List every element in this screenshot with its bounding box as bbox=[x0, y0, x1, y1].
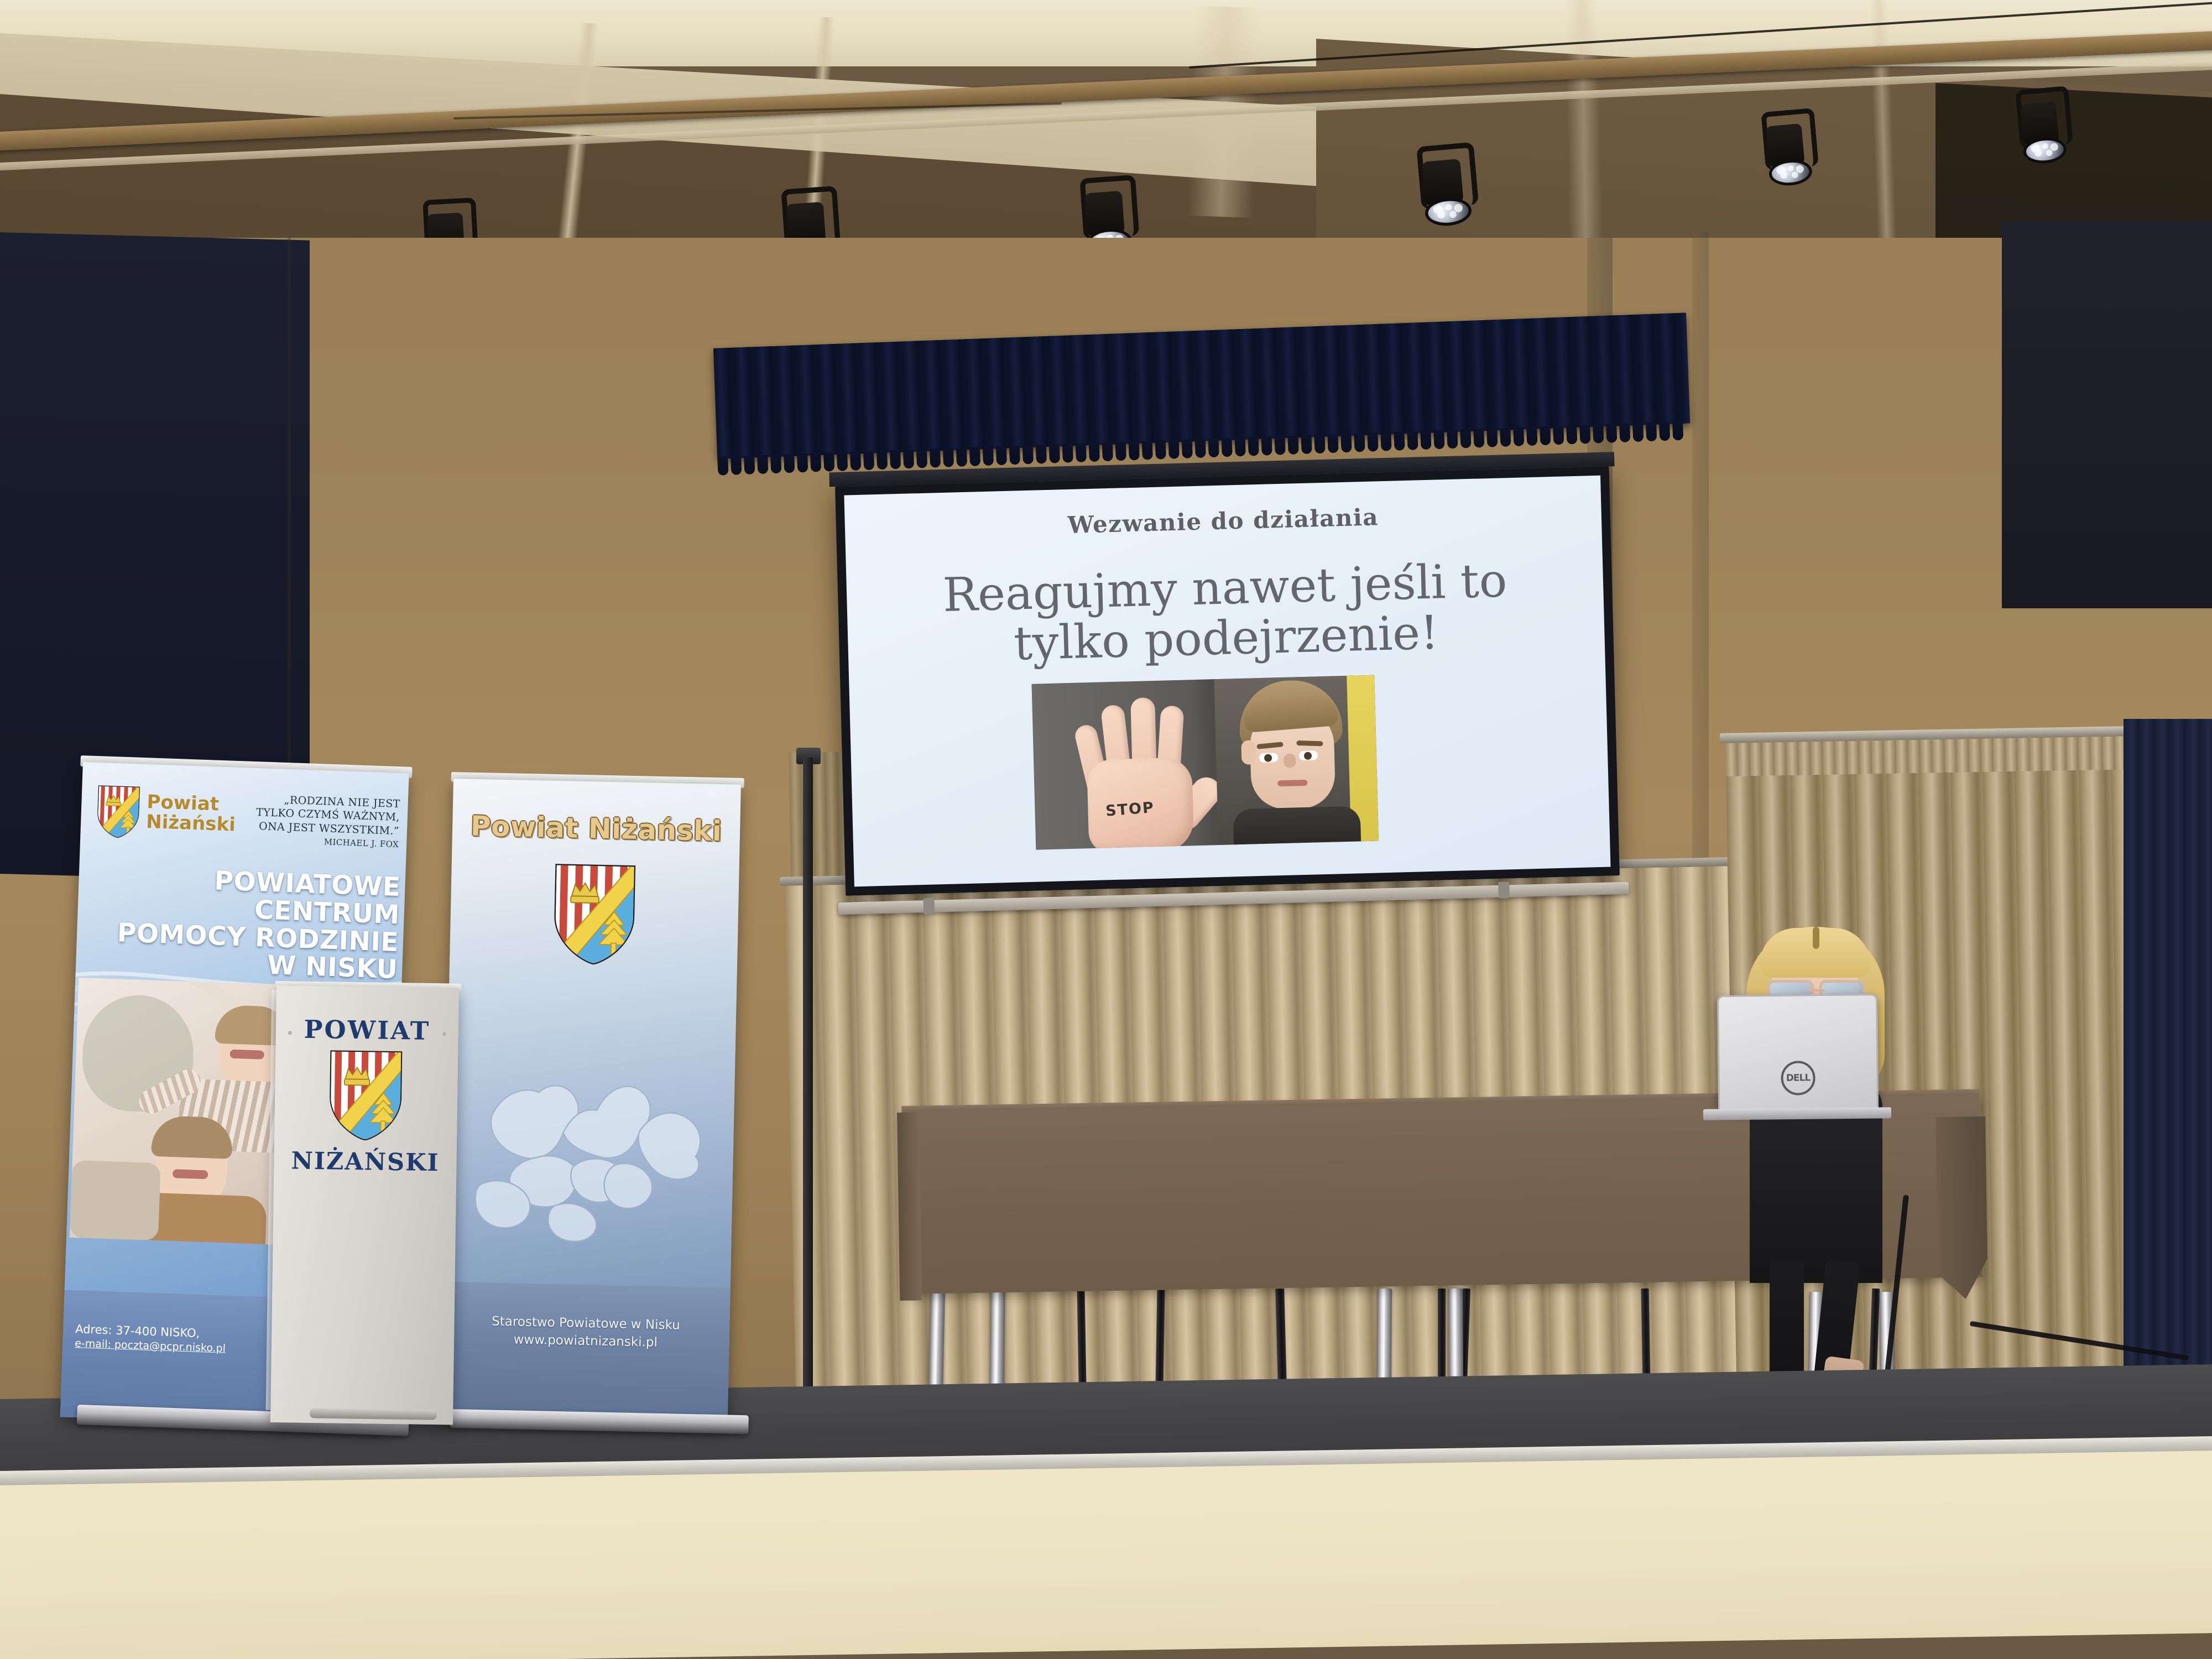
back-wall-dark-right bbox=[2002, 221, 2212, 608]
slide-title: Wezwanie do działania bbox=[844, 498, 1601, 545]
stage-light-par bbox=[1414, 143, 1472, 225]
presenter-hair-part bbox=[1813, 927, 1819, 949]
banner-pcpr-quote: „RODZINA NIE JEST TYLKO CZYMŚ WAŻNYM, ON… bbox=[233, 792, 400, 851]
boy-portrait bbox=[1214, 675, 1379, 845]
coat-of-arms-icon bbox=[327, 1049, 404, 1142]
podium[interactable]: POWIAT bbox=[270, 985, 459, 1425]
coat-of-arms-icon bbox=[552, 863, 637, 967]
podium-stand-base bbox=[310, 1408, 437, 1420]
stop-hand-illustration: STOP bbox=[1075, 690, 1218, 849]
stage-light-par bbox=[2013, 86, 2067, 162]
banner-powiat-footer-text: Starostwo Powiatowe w Nisku www.powiatni… bbox=[441, 1311, 729, 1353]
podium-title-top: POWIAT bbox=[276, 1014, 459, 1046]
stage-light-par bbox=[1759, 108, 1812, 184]
screen-support-pole bbox=[803, 758, 813, 1471]
banner-pcpr-logo-line2: Niżański bbox=[146, 812, 236, 835]
tablecloth-fold-right bbox=[1936, 1117, 1988, 1300]
conference-hall-scene: Wezwanie do działania Reagujmy nawet jeś… bbox=[0, 0, 2212, 1659]
screen-clip bbox=[924, 898, 935, 915]
district-map-icon bbox=[466, 1017, 714, 1254]
slide-canvas: Wezwanie do działania Reagujmy nawet jeś… bbox=[844, 476, 1610, 887]
stage-apron-wall bbox=[0, 1451, 2212, 1659]
banner-powiat-footer bbox=[440, 1282, 731, 1426]
banner-powiat-title: Powiat Niżański bbox=[452, 810, 740, 848]
laptop-base bbox=[1703, 1107, 1891, 1120]
laptop[interactable]: DELL bbox=[1717, 994, 1879, 1112]
slide-photo: STOP bbox=[1031, 675, 1379, 850]
screen-clip bbox=[1498, 881, 1510, 899]
tablecloth-fold-left bbox=[897, 1112, 922, 1301]
projection-screen[interactable]: Wezwanie do działania Reagujmy nawet jeś… bbox=[835, 466, 1620, 895]
banner-pcpr-logo-text: Powiat Niżański bbox=[146, 792, 237, 835]
coat-of-arms-icon bbox=[96, 785, 140, 839]
dell-logo-icon: DELL bbox=[1781, 1061, 1815, 1095]
banner-powiat[interactable]: Powiat Niżański bbox=[440, 779, 741, 1426]
slide-headline: Reagujmy nawet jeśli to tylko podejrzeni… bbox=[846, 553, 1605, 673]
podium-title-bottom: NIŻAŃSKI bbox=[274, 1147, 457, 1177]
wall-pillar bbox=[1692, 232, 1709, 896]
